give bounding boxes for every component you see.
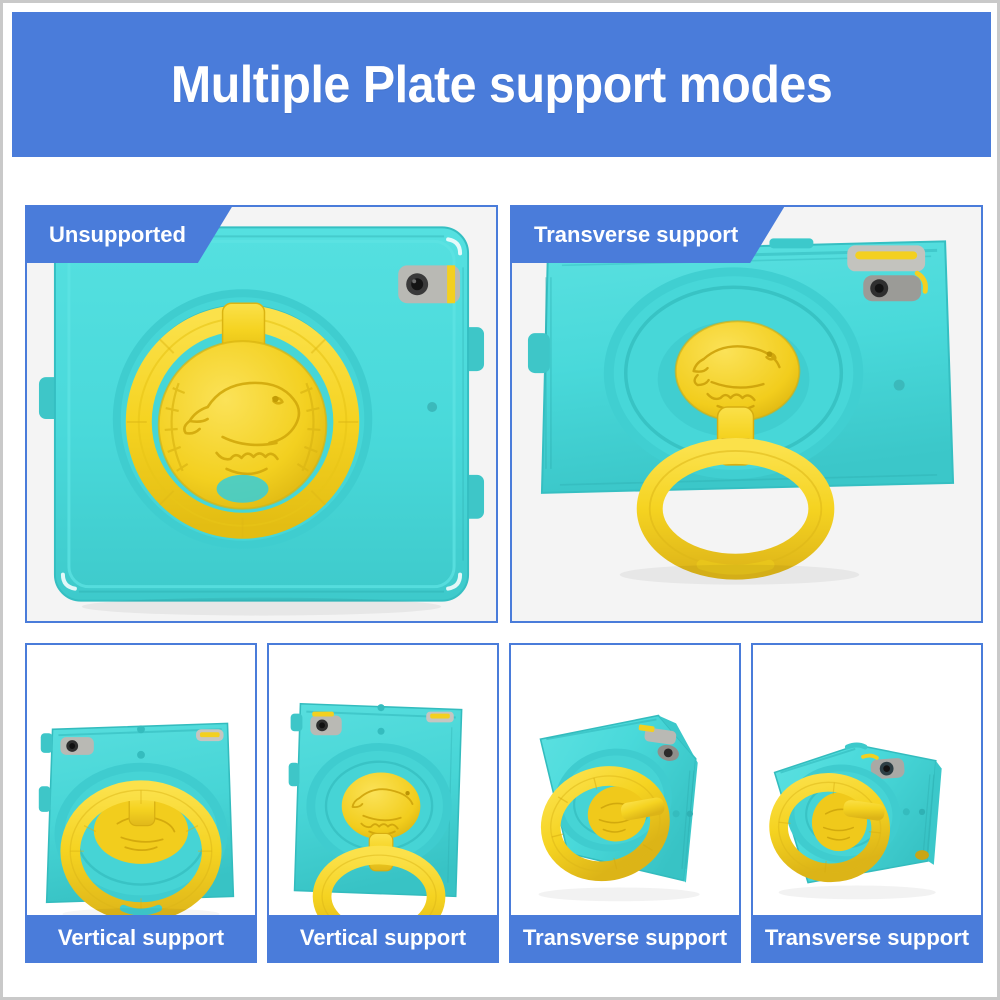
panel-transverse-support-1[interactable]: Transverse support xyxy=(509,643,741,963)
tablet-unsupported-art xyxy=(27,207,496,621)
panel-label-transverse-1: Transverse support xyxy=(511,915,739,961)
panel-vertical-support-2[interactable]: Vertical support xyxy=(267,643,499,963)
tablet-vertical-1-art xyxy=(27,645,255,961)
tablet-transverse-1-art xyxy=(511,645,739,961)
panel-label-transverse-large: Transverse support xyxy=(512,207,784,263)
tablet-vertical-2-art xyxy=(269,645,497,961)
tablet-transverse-large-art xyxy=(512,207,981,621)
top-panel-row: Unsupported xyxy=(25,205,983,623)
product-stage-vertical-2 xyxy=(269,645,497,961)
panel-label-unsupported: Unsupported xyxy=(27,207,232,263)
panel-transverse-support-large[interactable]: Transverse support xyxy=(510,205,983,623)
panel-label-vertical-2: Vertical support xyxy=(269,915,497,961)
panel-label-vertical-1: Vertical support xyxy=(27,915,255,961)
product-stage-unsupported xyxy=(27,207,496,621)
header-banner: Multiple Plate support modes xyxy=(12,12,991,157)
product-stage-vertical-1 xyxy=(27,645,255,961)
panel-unsupported[interactable]: Unsupported xyxy=(25,205,498,623)
panel-transverse-support-2[interactable]: Transverse support xyxy=(751,643,983,963)
page-title: Multiple Plate support modes xyxy=(171,55,832,115)
bottom-panel-row: Vertical support xyxy=(25,643,983,963)
panel-label-transverse-2: Transverse support xyxy=(753,915,981,961)
panel-vertical-support-1[interactable]: Vertical support xyxy=(25,643,257,963)
product-stage-transverse-2 xyxy=(753,645,981,961)
product-stage-transverse-large xyxy=(512,207,981,621)
tablet-transverse-2-art xyxy=(753,645,981,961)
product-stage-transverse-1 xyxy=(511,645,739,961)
infographic-page: Multiple Plate support modes xyxy=(0,0,1000,1000)
